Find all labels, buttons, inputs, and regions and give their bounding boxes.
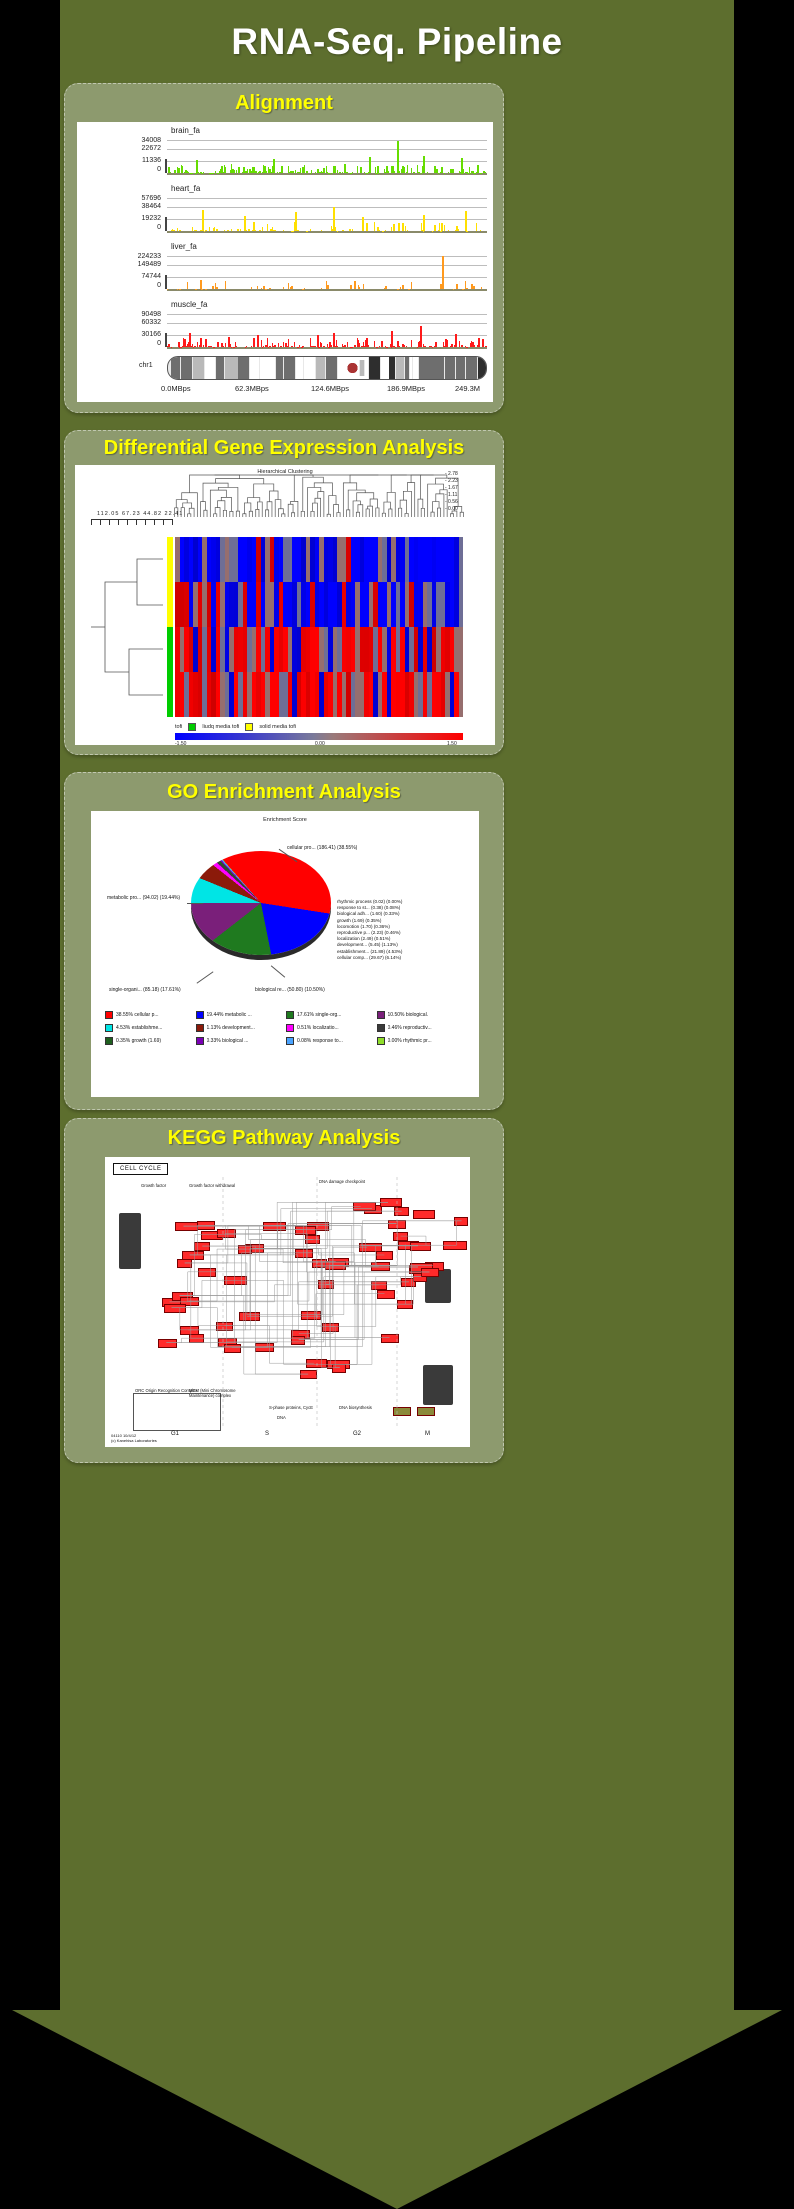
kegg-gene-node[interactable] bbox=[376, 1251, 393, 1260]
pie-legend-item: 19.44% metabolic ... bbox=[196, 1011, 287, 1019]
kegg-gene-node[interactable] bbox=[177, 1259, 192, 1268]
pie-legend-swatch bbox=[286, 1024, 294, 1032]
pie-legend-item: 17.61% single-org... bbox=[286, 1011, 377, 1019]
kegg-gene-node[interactable] bbox=[300, 1370, 317, 1379]
kegg-footer-line-1: (c) Kanehisa Laboratories bbox=[111, 1438, 157, 1443]
kegg-gene-node[interactable] bbox=[371, 1281, 387, 1290]
arrow-head bbox=[12, 1970, 782, 2209]
kegg-gene-node[interactable] bbox=[371, 1262, 390, 1271]
kegg-gene-node[interactable] bbox=[158, 1339, 177, 1348]
heatmap-right-scale-tick: - 1.67 bbox=[445, 485, 491, 492]
heatmap-legend: tofi liudq media tofi solid media tofi bbox=[175, 723, 296, 731]
kegg-gene-node[interactable] bbox=[359, 1243, 382, 1252]
pie-legend-item: 38.55% cellular p... bbox=[105, 1011, 196, 1019]
pie-legend-label: 0.08% response to... bbox=[297, 1038, 343, 1044]
track-ytick-brain-0: 0 bbox=[103, 166, 161, 173]
kegg-gene-node-other[interactable] bbox=[393, 1407, 411, 1416]
pie-legend-label: 17.61% single-org... bbox=[297, 1012, 341, 1018]
legend-item-2-label: solid media tofi bbox=[259, 724, 296, 730]
pie-legend-label: 19.44% metabolic ... bbox=[207, 1012, 252, 1018]
kegg-gene-node[interactable] bbox=[322, 1323, 339, 1332]
kegg-phase-g1: G1 bbox=[171, 1431, 179, 1437]
expression-heatmap bbox=[175, 537, 463, 717]
heatmap-right-scale-tick: - 2.23 bbox=[445, 478, 491, 485]
kegg-gene-node[interactable] bbox=[421, 1268, 438, 1277]
track-ytick-muscle-2: 60332 bbox=[103, 319, 161, 326]
ideogram-label: chr1 bbox=[139, 362, 153, 369]
pie-legend-label: 0.51% localizatio... bbox=[297, 1025, 339, 1031]
pie-legend-swatch bbox=[196, 1011, 204, 1019]
pie-legend-item: 0.51% localizatio... bbox=[286, 1024, 377, 1032]
track-ytick-liver-0: 0 bbox=[103, 282, 161, 289]
pie-callout-biological: biological re... (50.80) (10.50%) bbox=[255, 987, 325, 993]
kegg-phase-s: S bbox=[265, 1431, 269, 1437]
heatmap-right-scale: - 2.78- 2.23- 1.67- 1.11- 0.56- 0.00 bbox=[445, 471, 491, 513]
track-ytick-liver-1: 74744 bbox=[103, 273, 161, 280]
pie-callout-single: single-organi... (85.18) (17.61%) bbox=[109, 987, 181, 993]
kegg-gene-node[interactable] bbox=[164, 1304, 186, 1313]
kegg-gene-node[interactable] bbox=[175, 1222, 197, 1231]
pie-chart-title: Enrichment Score bbox=[91, 817, 479, 823]
kegg-gene-node[interactable] bbox=[380, 1198, 402, 1207]
section-card-go: GO Enrichment Analysis Enrichment Score … bbox=[64, 772, 504, 1110]
kegg-gene-node[interactable] bbox=[295, 1249, 313, 1258]
kegg-gene-node[interactable] bbox=[255, 1343, 274, 1352]
page-title: RNA-Seq. Pipeline bbox=[60, 5, 734, 79]
pie-legend-swatch bbox=[196, 1037, 204, 1045]
track-ytick-muscle-0: 0 bbox=[103, 340, 161, 347]
heatmap-scale-labels: 112.05 67.23 44.82 22.41 bbox=[97, 511, 183, 517]
colorbar-tick-min: -1.50 bbox=[175, 741, 186, 745]
track-label-muscle: muscle_fa bbox=[171, 300, 207, 309]
track-bars-brain bbox=[167, 139, 487, 173]
go-figure: Enrichment Score cellular pro... (186.41… bbox=[91, 811, 479, 1097]
kegg-top-label-2: DNA damage checkpoint bbox=[319, 1179, 365, 1184]
track-label-brain: brain_fa bbox=[171, 126, 200, 135]
track-ytick-liver-2: 149489 bbox=[103, 261, 161, 268]
pie-legend-label: 0.33% biological ... bbox=[207, 1038, 249, 1044]
track-liver: liver_fa 224233 149489 74744 0 bbox=[77, 242, 493, 294]
pie-legend-label: 1.13% development... bbox=[207, 1025, 255, 1031]
x-tick-1: 62.3MBps bbox=[235, 384, 269, 393]
pie-legend-item: 0.35% growth (1.69) bbox=[105, 1037, 196, 1045]
pie-callout-metabolic: metabolic pro... (94.02) (19.44%) bbox=[107, 895, 180, 901]
pie-legend-swatch bbox=[286, 1037, 294, 1045]
kegg-gene-node[interactable] bbox=[394, 1207, 409, 1216]
kegg-top-label-1: Growth factor withdrawal bbox=[189, 1183, 235, 1188]
pie-legend-label: 0.46% reproductiv... bbox=[388, 1025, 432, 1031]
heatmap-right-scale-tick: - 0.56 bbox=[445, 499, 491, 506]
kegg-gene-node[interactable] bbox=[306, 1359, 326, 1368]
track-brain: brain_fa 34008 22672 11336 0 bbox=[77, 126, 493, 178]
track-ytick-heart-3: 57696 bbox=[103, 195, 161, 202]
track-bars-muscle bbox=[167, 313, 487, 347]
legend-swatch-2 bbox=[245, 723, 253, 731]
kegg-gene-node[interactable] bbox=[238, 1245, 252, 1254]
track-label-liver: liver_fa bbox=[171, 242, 197, 251]
kegg-gene-node[interactable] bbox=[305, 1235, 320, 1244]
pie-legend-item: 4.53% establishme... bbox=[105, 1024, 196, 1032]
heatmap-colorbar bbox=[175, 733, 463, 740]
x-tick-4: 249.3M bbox=[455, 384, 480, 393]
kegg-gene-node[interactable] bbox=[325, 1261, 346, 1270]
pie-slices bbox=[191, 851, 331, 955]
kegg-gene-node[interactable] bbox=[224, 1344, 241, 1353]
pie-legend-label: 38.55% cellular p... bbox=[116, 1012, 159, 1018]
kegg-note-2: DNA bbox=[277, 1415, 286, 1420]
pie-right-labels: rhythmic process (0.02) (0.00%)response … bbox=[337, 899, 477, 961]
heatmap-scale-ruler bbox=[91, 519, 173, 525]
pie-legend-swatch bbox=[105, 1024, 113, 1032]
kegg-gene-node[interactable] bbox=[194, 1242, 209, 1251]
kegg-footer: 04110 10/4/12 (c) Kanehisa Laboratories bbox=[111, 1433, 157, 1443]
x-tick-3: 186.9MBps bbox=[387, 384, 425, 393]
kegg-growth-factor-node bbox=[119, 1213, 141, 1269]
kegg-gene-node[interactable] bbox=[454, 1217, 468, 1226]
heatmap-right-scale-tick: - 1.11 bbox=[445, 492, 491, 499]
kegg-gene-node[interactable] bbox=[291, 1336, 305, 1345]
kegg-gene-node[interactable] bbox=[180, 1326, 199, 1335]
chromosome-ideogram bbox=[167, 356, 487, 380]
kegg-gene-node[interactable] bbox=[197, 1221, 215, 1230]
section-card-dge: Differential Gene Expression Analysis Hi… bbox=[64, 430, 504, 755]
pie-legend-swatch bbox=[377, 1024, 385, 1032]
kegg-gene-node[interactable] bbox=[182, 1251, 204, 1260]
track-ytick-muscle-1: 30166 bbox=[103, 331, 161, 338]
kegg-ubiquitin-node bbox=[423, 1365, 453, 1405]
track-ytick-brain-1: 11336 bbox=[103, 157, 161, 164]
kegg-gene-node[interactable] bbox=[443, 1241, 466, 1250]
left-dendrogram bbox=[85, 537, 165, 717]
heatmap-right-scale-tick: - 0.00 bbox=[445, 506, 491, 513]
pie-legend-swatch bbox=[286, 1011, 294, 1019]
track-bars-liver bbox=[167, 255, 487, 289]
kegg-gene-node[interactable] bbox=[397, 1300, 413, 1309]
colorbar-tick-mid: 0.00 bbox=[315, 741, 325, 745]
kegg-phase-m: M bbox=[425, 1431, 430, 1437]
pie-legend-swatch bbox=[196, 1024, 204, 1032]
pie-right-label: cellular comp... (29.67) (6.14%) bbox=[337, 955, 477, 961]
track-ytick-heart-1: 19232 bbox=[103, 215, 161, 222]
kegg-gene-node[interactable] bbox=[295, 1226, 316, 1235]
pie-legend-item: 0.00% rhythmic pr... bbox=[377, 1037, 468, 1045]
kegg-gene-node[interactable] bbox=[413, 1210, 435, 1219]
kegg-complex-label-mcm: MCM (Mini Chromosome Maintenance) comple… bbox=[189, 1389, 259, 1398]
track-ytick-heart-0: 0 bbox=[103, 224, 161, 231]
kegg-gene-node[interactable] bbox=[377, 1290, 396, 1299]
page-title-text: RNA-Seq. Pipeline bbox=[231, 21, 562, 63]
section-card-alignment: Alignment brain_fa 34008 22672 11336 0 h… bbox=[64, 83, 504, 413]
kegg-gene-node[interactable] bbox=[332, 1364, 346, 1373]
pie-legend-item: 10.50% biological. bbox=[377, 1011, 468, 1019]
track-ytick-brain-3: 34008 bbox=[103, 137, 161, 144]
pie-legend-swatch bbox=[377, 1011, 385, 1019]
kegg-gene-node[interactable] bbox=[198, 1268, 216, 1277]
kegg-gene-node[interactable] bbox=[301, 1311, 321, 1320]
kegg-gene-node[interactable] bbox=[353, 1202, 377, 1211]
pie-legend-label: 10.50% biological. bbox=[388, 1012, 429, 1018]
pie-legend-label: 4.53% establishme... bbox=[116, 1025, 162, 1031]
section-title-go: GO Enrichment Analysis bbox=[65, 781, 503, 804]
kegg-gene-node[interactable] bbox=[410, 1242, 432, 1251]
cluster-color-bar bbox=[167, 537, 173, 717]
section-title-dge: Differential Gene Expression Analysis bbox=[65, 437, 503, 460]
track-bars-heart bbox=[167, 197, 487, 231]
track-ytick-brain-2: 22672 bbox=[103, 145, 161, 152]
kegg-phase-g2: G2 bbox=[353, 1431, 361, 1437]
heatmap-right-scale-tick: - 2.78 bbox=[445, 471, 491, 478]
pie-chart bbox=[191, 851, 331, 961]
top-dendrogram bbox=[173, 473, 465, 517]
kegg-gene-node[interactable] bbox=[217, 1229, 236, 1238]
kegg-gene-node[interactable] bbox=[381, 1334, 399, 1343]
section-title-kegg: KEGG Pathway Analysis bbox=[65, 1127, 503, 1150]
section-card-kegg: KEGG Pathway Analysis CELL CYCLE Growth … bbox=[64, 1118, 504, 1463]
track-ytick-heart-2: 38464 bbox=[103, 203, 161, 210]
track-ytick-liver-3: 224233 bbox=[103, 253, 161, 260]
pie-callout-cellular: cellular pro... (186.41) (38.55%) bbox=[287, 845, 357, 851]
pie-legend-label: 0.35% growth (1.69) bbox=[116, 1038, 161, 1044]
legend-item-0-label: tofi bbox=[175, 724, 182, 730]
track-muscle: muscle_fa 90498 60332 30166 0 bbox=[77, 300, 493, 352]
pie-legend: 38.55% cellular p...19.44% metabolic ...… bbox=[105, 1011, 467, 1050]
kegg-top-label-0: Growth factor bbox=[141, 1183, 166, 1188]
pie-legend-item: 0.46% reproductiv... bbox=[377, 1024, 468, 1032]
legend-swatch-1 bbox=[188, 723, 196, 731]
kegg-gene-node[interactable] bbox=[189, 1334, 204, 1343]
legend-item-1-label: liudq media tofi bbox=[202, 724, 239, 730]
kegg-figure: CELL CYCLE Growth factor Growth factor w… bbox=[105, 1157, 470, 1447]
pie-legend-swatch bbox=[105, 1011, 113, 1019]
kegg-gene-node[interactable] bbox=[318, 1280, 334, 1289]
kegg-gene-node[interactable] bbox=[216, 1322, 232, 1331]
track-heart: heart_fa 57696 38464 19232 0 bbox=[77, 184, 493, 236]
kegg-complex-box-orc bbox=[133, 1393, 221, 1431]
pie-legend-item: 1.13% development... bbox=[196, 1024, 287, 1032]
kegg-map-title: CELL CYCLE bbox=[113, 1163, 168, 1175]
pie-legend-swatch bbox=[105, 1037, 113, 1045]
section-title-alignment: Alignment bbox=[65, 92, 503, 115]
kegg-gene-node[interactable] bbox=[388, 1220, 406, 1229]
alignment-figure: brain_fa 34008 22672 11336 0 heart_fa 57… bbox=[77, 122, 493, 402]
kegg-gene-node[interactable] bbox=[239, 1312, 259, 1321]
colorbar-tick-max: 1.50 bbox=[447, 741, 457, 745]
pie-legend-label: 0.00% rhythmic pr... bbox=[388, 1038, 432, 1044]
kegg-gene-node[interactable] bbox=[263, 1222, 286, 1231]
track-ytick-muscle-3: 90498 bbox=[103, 311, 161, 318]
x-tick-0: 0.0MBps bbox=[161, 384, 191, 393]
kegg-note-0: S-phase proteins, CycE bbox=[269, 1405, 313, 1410]
x-tick-2: 124.6MBps bbox=[311, 384, 349, 393]
kegg-gene-node-other[interactable] bbox=[417, 1407, 435, 1416]
kegg-note-1: DNA biosynthesis bbox=[339, 1405, 372, 1410]
dge-figure: Hierarchical Clustering 112.05 67.23 44.… bbox=[75, 465, 495, 745]
pie-legend-item: 0.33% biological ... bbox=[196, 1037, 287, 1045]
kegg-gene-node[interactable] bbox=[224, 1276, 246, 1285]
track-label-heart: heart_fa bbox=[171, 184, 200, 193]
pie-legend-swatch bbox=[377, 1037, 385, 1045]
pie-legend-item: 0.08% response to... bbox=[286, 1037, 377, 1045]
